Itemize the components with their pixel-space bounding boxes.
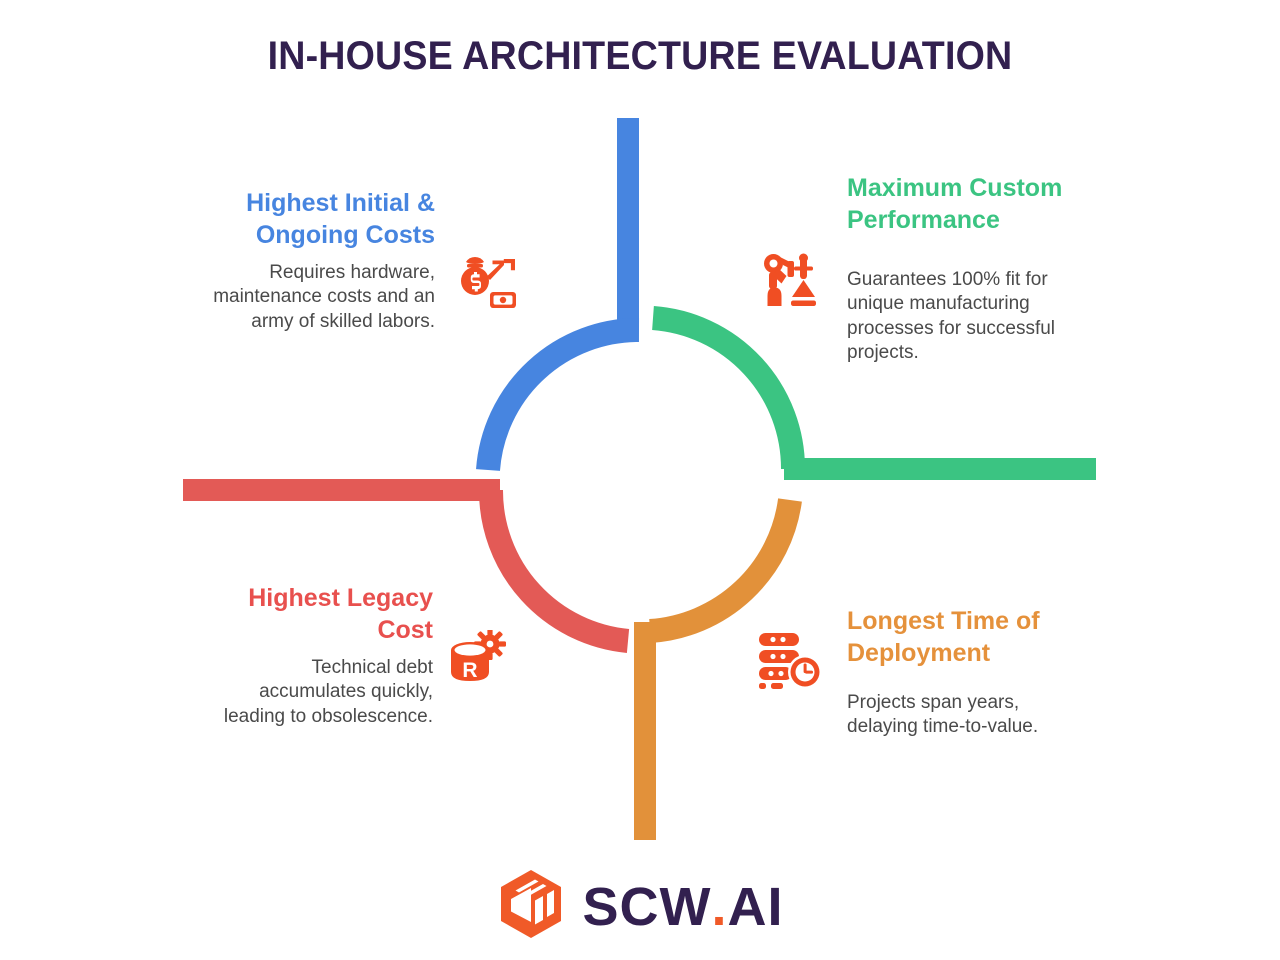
scwai-logo: SCW.AI [0,868,1280,945]
quadrant-bottom-left: Highest Legacy Cost Technical debt accum… [205,583,433,729]
quadrant-bottom-right-heading: Longest Time of Deployment [847,606,1087,669]
quadrant-top-left-body: Requires hardware, maintenance costs and… [190,261,435,334]
scwai-cube-icon [497,868,565,945]
server-clock-icon [757,630,825,697]
logo-text-dot: . [711,880,727,934]
quadrant-top-right-heading: Maximum Custom Performance [847,173,1077,236]
quadrant-bottom-right-body: Projects span years, delaying time-to-va… [847,679,1087,740]
svg-text:R: R [462,659,477,682]
quadrant-bottom-left-body: Technical debt accumulates quickly, lead… [205,656,433,729]
database-gear-icon: R [446,630,512,699]
logo-text-main: SCW [583,880,712,934]
quadrant-top-right: Maximum Custom Performance Guarantees 10… [847,173,1077,365]
logo-text-suffix: AI [728,880,784,934]
quadrant-top-left-heading: Highest Initial & Ongoing Costs [190,188,435,251]
scwai-wordmark: SCW.AI [583,880,784,934]
quadrant-top-left: Highest Initial & Ongoing Costs Requires… [190,188,435,334]
page-title: IN-HOUSE ARCHITECTURE EVALUATION [38,34,1241,79]
money-bag-growth-icon [452,250,522,325]
quadrant-bottom-right: Longest Time of Deployment Projects span… [847,606,1087,740]
quadrant-top-right-body: Guarantees 100% fit for unique manufactu… [847,246,1077,365]
robot-arm-icon [762,252,828,323]
quadrant-bottom-left-heading: Highest Legacy Cost [205,583,433,646]
cycle-diagram [0,0,1280,960]
